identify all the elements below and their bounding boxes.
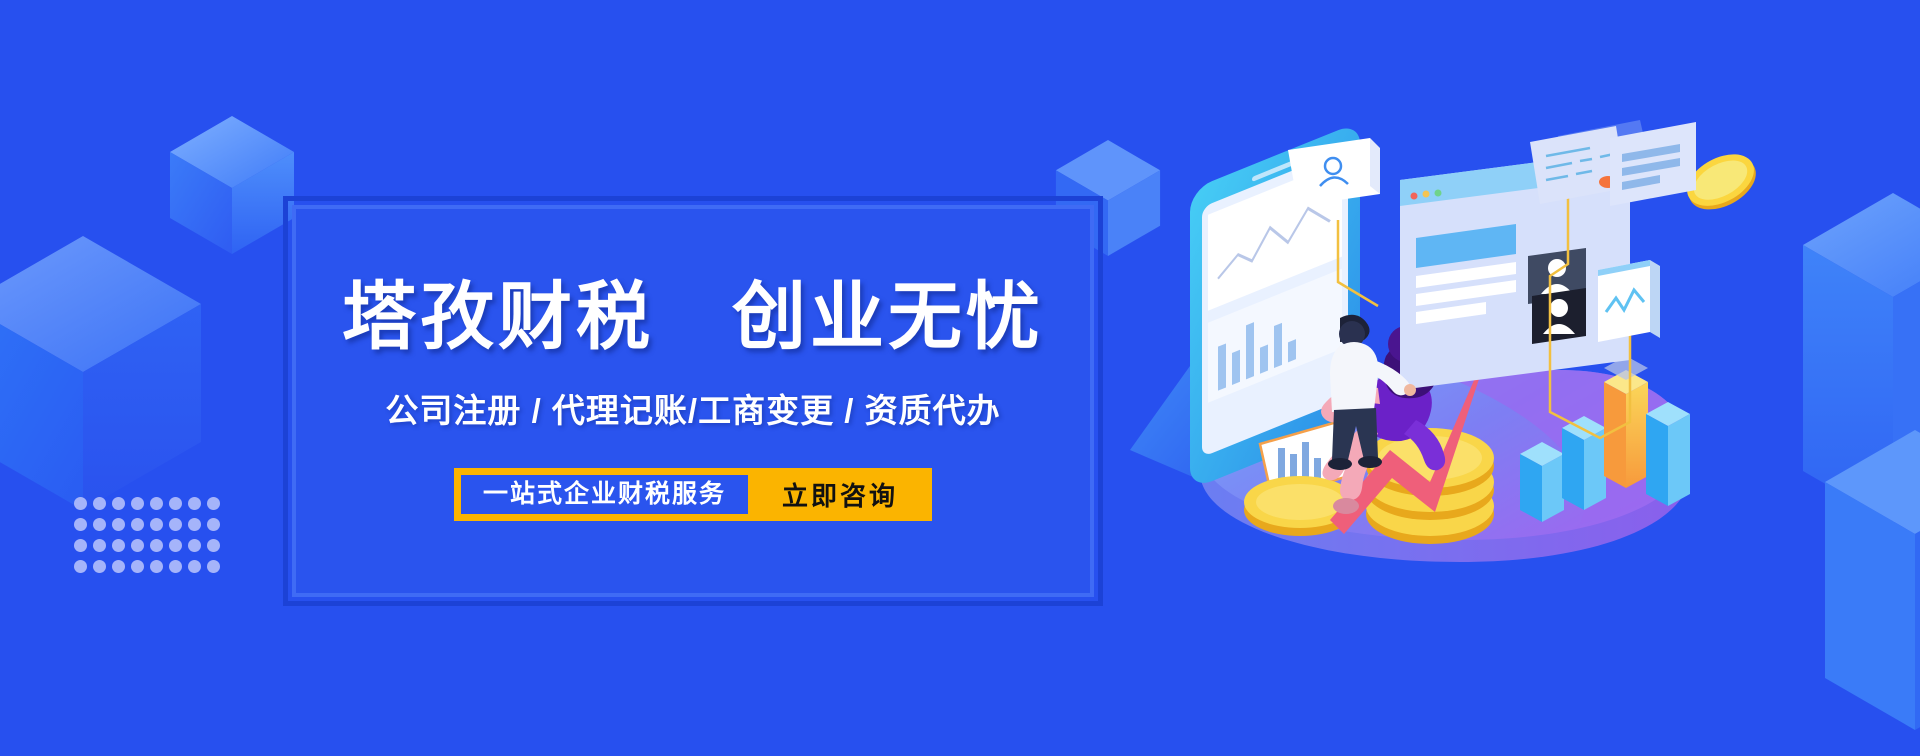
isometric-finance-illustration [1130, 120, 1770, 620]
cube-large-left-icon [0, 228, 208, 518]
consult-now-button[interactable]: 立即咨询 [748, 476, 924, 513]
headline-text-block: 塔孜财税 创业无忧 公司注册 / 代理记账/工商变更 / 资质代办 一站式企业财… [292, 205, 1094, 597]
block-tall-right-lower-icon [1820, 420, 1920, 740]
page-title: 塔孜财税 创业无忧 [342, 277, 1044, 357]
floating-profile-card [1288, 138, 1380, 206]
promo-banner: 塔孜财税 创业无忧 公司注册 / 代理记账/工商变更 / 资质代办 一站式企业财… [0, 0, 1920, 756]
bar-blue-3 [1646, 402, 1690, 506]
service-list-subtitle: 公司注册 / 代理记账/工商变更 / 资质代办 [385, 384, 1000, 432]
bar-blue-1 [1520, 442, 1564, 522]
cube-small-upper-left-icon [162, 110, 302, 260]
block-tall-right-icon [1798, 183, 1920, 533]
floating-line-chart-card [1598, 260, 1660, 342]
cta-bar[interactable]: 一站式企业财税服务 立即咨询 [454, 468, 932, 521]
cta-tagline: 一站式企业财税服务 [461, 475, 748, 514]
dot-grid-decoration [74, 497, 226, 581]
